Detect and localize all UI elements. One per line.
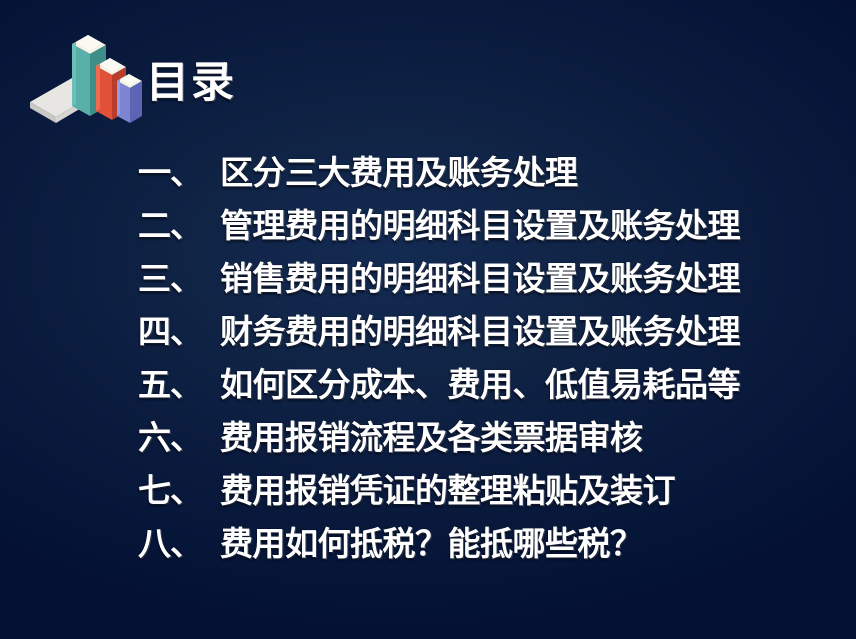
slide-header: 目录 (0, 0, 856, 142)
toc-item-7[interactable]: 七、 费用报销凭证的整理粘贴及装订 (138, 464, 838, 517)
toc-marker: 一、 (138, 146, 220, 194)
toc-marker: 五、 (138, 358, 220, 406)
toc-marker: 八、 (138, 517, 220, 565)
toc-item-8[interactable]: 八、 费用如何抵税？能抵哪些税？ (138, 517, 838, 570)
toc-item-5[interactable]: 五、 如何区分成本、费用、低值易耗品等 (138, 358, 838, 411)
toc-label: 销售费用的明细科目设置及账务处理 (220, 252, 740, 300)
toc-marker: 二、 (138, 199, 220, 247)
toc-label: 费用如何抵税？能抵哪些税？ (220, 517, 643, 565)
page-title: 目录 (146, 58, 236, 108)
toc-marker: 七、 (138, 464, 220, 512)
toc-label: 费用报销流程及各类票据审核 (220, 411, 643, 459)
toc-label: 财务费用的明细科目设置及账务处理 (220, 305, 740, 353)
toc-item-3[interactable]: 三、 销售费用的明细科目设置及账务处理 (138, 252, 838, 305)
toc-item-4[interactable]: 四、 财务费用的明细科目设置及账务处理 (138, 305, 838, 358)
toc-item-1[interactable]: 一、 区分三大费用及账务处理 (138, 146, 838, 199)
slide-root: 目录 一、 区分三大费用及账务处理 二、 管理费用的明细科目设置及账务处理 三、… (0, 0, 856, 639)
toc-label: 费用报销凭证的整理粘贴及装订 (220, 464, 675, 512)
books-icon (26, 28, 142, 132)
toc-marker: 三、 (138, 252, 220, 300)
toc-marker: 四、 (138, 305, 220, 353)
toc-label: 如何区分成本、费用、低值易耗品等 (220, 358, 740, 406)
toc-label: 管理费用的明细科目设置及账务处理 (220, 199, 740, 247)
toc-item-2[interactable]: 二、 管理费用的明细科目设置及账务处理 (138, 199, 838, 252)
toc-list: 一、 区分三大费用及账务处理 二、 管理费用的明细科目设置及账务处理 三、 销售… (138, 146, 838, 570)
toc-item-6[interactable]: 六、 费用报销流程及各类票据审核 (138, 411, 838, 464)
toc-marker: 六、 (138, 411, 220, 459)
toc-label: 区分三大费用及账务处理 (220, 146, 578, 194)
